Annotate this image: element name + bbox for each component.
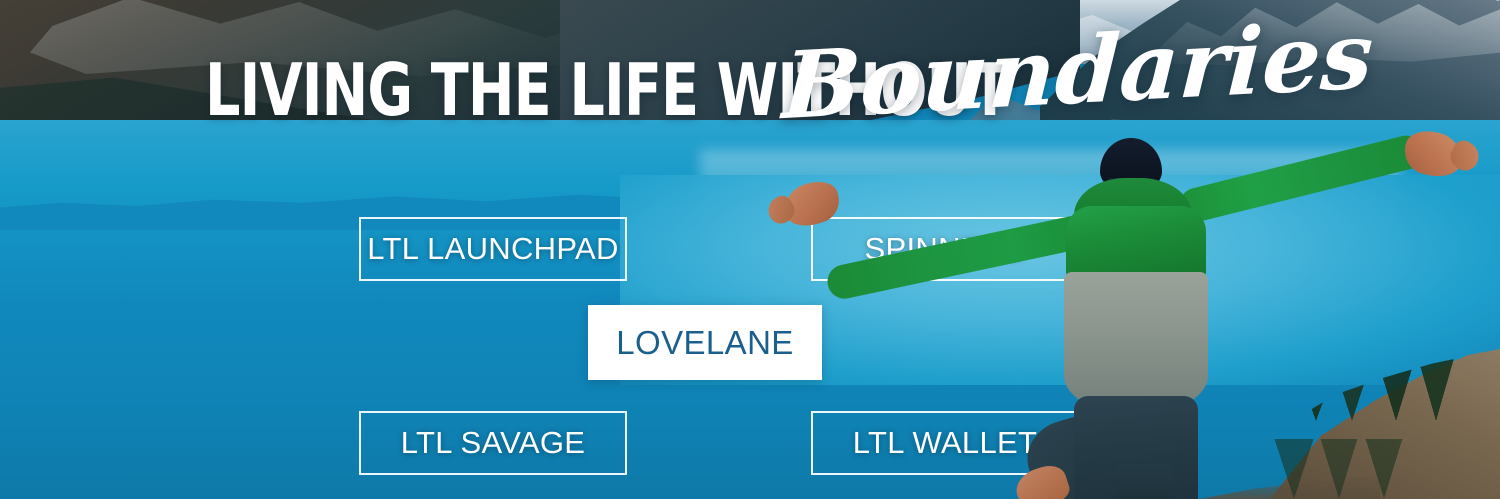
hoodie-grey-body <box>1064 272 1208 412</box>
button-ltl-launchpad[interactable]: LTL LAUNCHPAD <box>359 217 627 281</box>
person-figure <box>1012 120 1482 499</box>
hero-banner: LIVING THE LIFE WITHOUT Boundaries LTL L… <box>0 0 1500 499</box>
right-arm <box>1176 132 1427 225</box>
right-hand <box>1399 124 1468 184</box>
standing-leg <box>1116 464 1172 499</box>
button-lovelane[interactable]: LOVELANE <box>588 305 822 380</box>
hoodie-green-top <box>1066 206 1206 278</box>
button-ltl-savage[interactable]: LTL SAVAGE <box>359 411 627 475</box>
